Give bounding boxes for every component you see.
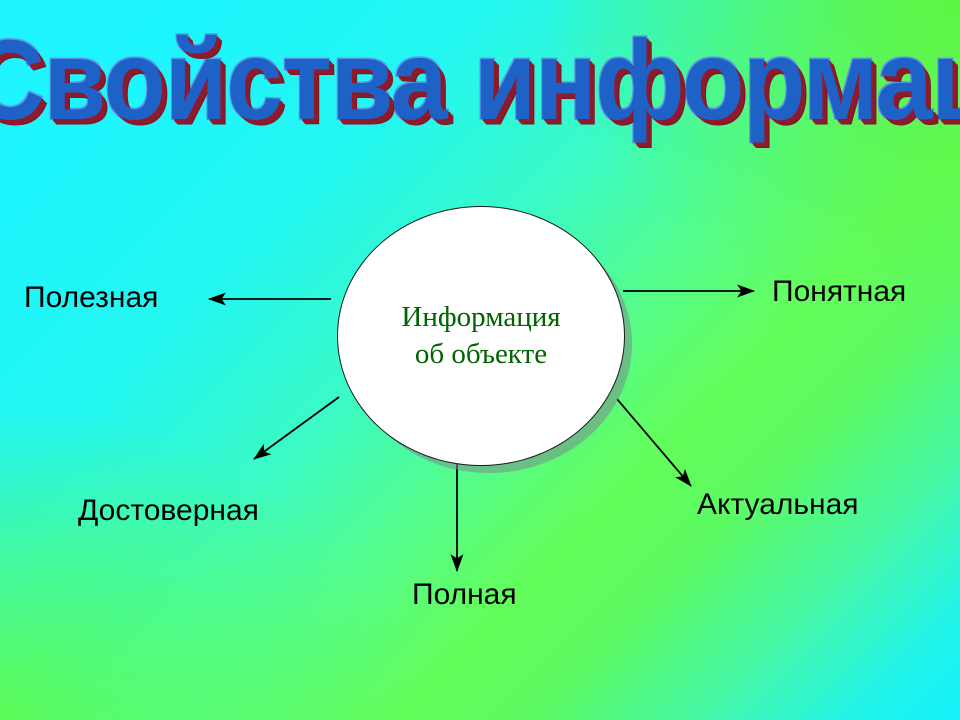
- property-label-ponyatnaya: Понятная: [772, 275, 906, 309]
- page-title: Свойства информации: [0, 22, 960, 141]
- property-label-poleznaya: Полезная: [24, 281, 158, 315]
- center-ellipse: Информация об объекте: [337, 206, 625, 466]
- property-label-dostovernaya: Достоверная: [78, 494, 259, 528]
- slide-content: Свойства информации Информация об объект…: [0, 0, 960, 720]
- center-ellipse-label: Информация об объекте: [401, 299, 560, 373]
- property-label-aktualnaya: Актуальная: [697, 488, 859, 522]
- property-label-polnaya: Полная: [412, 578, 517, 612]
- slide-canvas: Свойства информации Информация об объект…: [0, 0, 960, 720]
- arrow-to-dostovernaya: [254, 397, 339, 459]
- arrow-to-aktualnaya: [617, 399, 691, 486]
